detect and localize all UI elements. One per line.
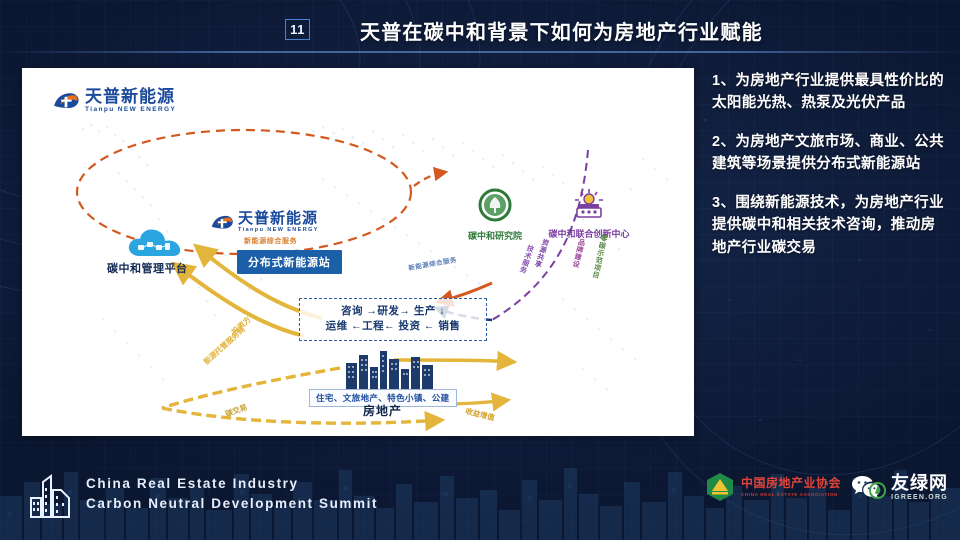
tianpu-mark-icon [52, 90, 80, 112]
process-row-forward: 咨询 →研发→ 生产 ↓ [306, 304, 480, 319]
diagram-panel: 天普新能源 Tianpu NEW ENERGY 天普新能源 Tianpu NEW… [22, 68, 694, 436]
crea-name-en: CHINA REAL ESTATE ASSOCIATION [741, 492, 841, 497]
tianpu-logo-cn: 天普新能源 [85, 88, 176, 105]
slide-root: 11 天普在碳中和背景下如何为房地产行业赋能 [0, 0, 960, 540]
distributed-energy-station-button[interactable]: 分布式新能源站 [237, 250, 342, 274]
tree-seal-icon [478, 188, 512, 222]
bullet-item-1: 1、为房地产行业提供最具性价比的太阳能光热、热泵及光伏产品 [712, 70, 950, 115]
real-estate-title: 房地产 [363, 402, 402, 419]
institute-carbon-research: 碳中和研究院 [460, 188, 530, 242]
summit-logo: China Real Estate Industry Carbon Neutra… [28, 468, 378, 520]
tianpu-logo-panel: 天普新能源 Tianpu NEW ENERGY [52, 88, 176, 114]
crea-name-cn: 中国房地产业协会 [741, 477, 841, 490]
bullet-item-2: 2、为房地产文旅市场、商业、公共建筑等场景提供分布式新能源站 [712, 131, 950, 176]
bullet-panel: 1、为房地产行业提供最具性价比的太阳能光热、热泵及光伏产品 2、为房地产文旅市场… [712, 70, 950, 275]
header-divider [0, 51, 960, 53]
institute-innovation-label: 碳中和联合创新中心 [534, 227, 644, 240]
footer-partner-logos: 中国房地产业协会 CHINA REAL ESTATE ASSOCIATION 友… [705, 472, 948, 502]
institute-research-label: 碳中和研究院 [460, 229, 530, 242]
institute-innovation-center: 碳中和联合创新中心 [534, 186, 644, 240]
platform-label: 碳中和管理平台 [107, 260, 188, 276]
hexagon-shield-icon [705, 472, 735, 502]
page-title: 天普在碳中和背景下如何为房地产行业赋能 [360, 16, 763, 45]
slide-header: 11 天普在碳中和背景下如何为房地产行业赋能 [0, 0, 960, 52]
process-flow-box: 咨询 →研发→ 生产 ↓ 运维 ←工程← 投资 ← 销售 [299, 298, 487, 341]
innovation-bulb-icon [571, 186, 607, 220]
tianpu-logo-center: 天普新能源 Tianpu NEW ENERGY [210, 211, 319, 234]
page-number-badge: 11 [285, 19, 310, 40]
bullet-item-3: 3、围绕新能源技术，为房地产行业提供碳中和相关技术咨询，推动房地产行业碳交易 [712, 192, 950, 259]
igreen-logo: 友绿网 IGREEN.ORG [891, 474, 948, 501]
tianpu-logo-en: Tianpu NEW ENERGY [85, 107, 176, 114]
tianpu-mark-center-icon [210, 213, 234, 232]
center-subtitle: 新能源综合服务 [244, 236, 297, 246]
tianpu-center-cn: 天普新能源 [238, 211, 319, 226]
cloud-icon [126, 226, 188, 262]
green-leaf-icon [869, 482, 886, 499]
building-outline-icon [28, 468, 74, 520]
crea-logo: 中国房地产业协会 CHINA REAL ESTATE ASSOCIATION [705, 472, 841, 502]
summit-line-2: Carbon Neutral Development Summit [86, 494, 378, 514]
slide-footer: China Real Estate Industry Carbon Neutra… [0, 452, 960, 540]
city-buildings-icon [342, 349, 438, 389]
igreen-name-en: IGREEN.ORG [891, 494, 948, 501]
tianpu-center-en: Tianpu NEW ENERGY [238, 228, 319, 234]
igreen-name-cn: 友绿网 [891, 474, 948, 492]
summit-line-1: China Real Estate Industry [86, 474, 378, 494]
process-row-backward: 运维 ←工程← 投资 ← 销售 [306, 319, 480, 334]
